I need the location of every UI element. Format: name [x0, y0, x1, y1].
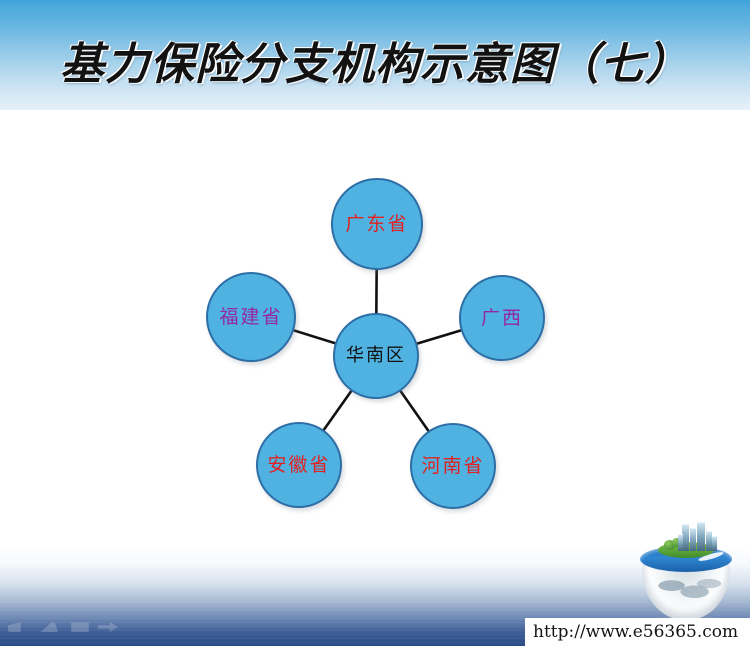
node-fujian-label: 福建省	[219, 308, 282, 327]
building-icon	[712, 536, 717, 551]
node-center-label: 华南区	[346, 347, 406, 365]
building-icon	[678, 534, 683, 551]
node-henan[interactable]: 河南省	[410, 423, 496, 509]
node-center-huanan[interactable]: 华南区	[333, 313, 419, 399]
globe-map-texture	[650, 572, 722, 606]
node-anhui[interactable]: 安徽省	[256, 422, 342, 508]
node-fujian[interactable]: 福建省	[206, 272, 296, 362]
building-icon	[690, 528, 696, 551]
node-guangdong-label: 广东省	[345, 215, 408, 234]
watermark-url: http://www.e56365.com	[525, 622, 738, 642]
watermark-bar: http://www.e56365.com	[525, 618, 750, 646]
building-icon	[682, 524, 689, 551]
node-henan-label: 河南省	[421, 457, 484, 476]
boat-icon	[70, 621, 90, 632]
node-guangxi-label: 广西	[481, 309, 523, 328]
node-guangxi[interactable]: 广西	[459, 275, 545, 361]
earth-city-globe-icon	[638, 522, 734, 622]
node-anhui-label: 安徽省	[267, 456, 330, 475]
node-guangdong[interactable]: 广东省	[331, 178, 423, 270]
building-icon	[697, 522, 705, 551]
slide-canvas: 基力保险分支机构示意图（七） 广东省 福建省 广西 安徽省	[0, 0, 750, 646]
